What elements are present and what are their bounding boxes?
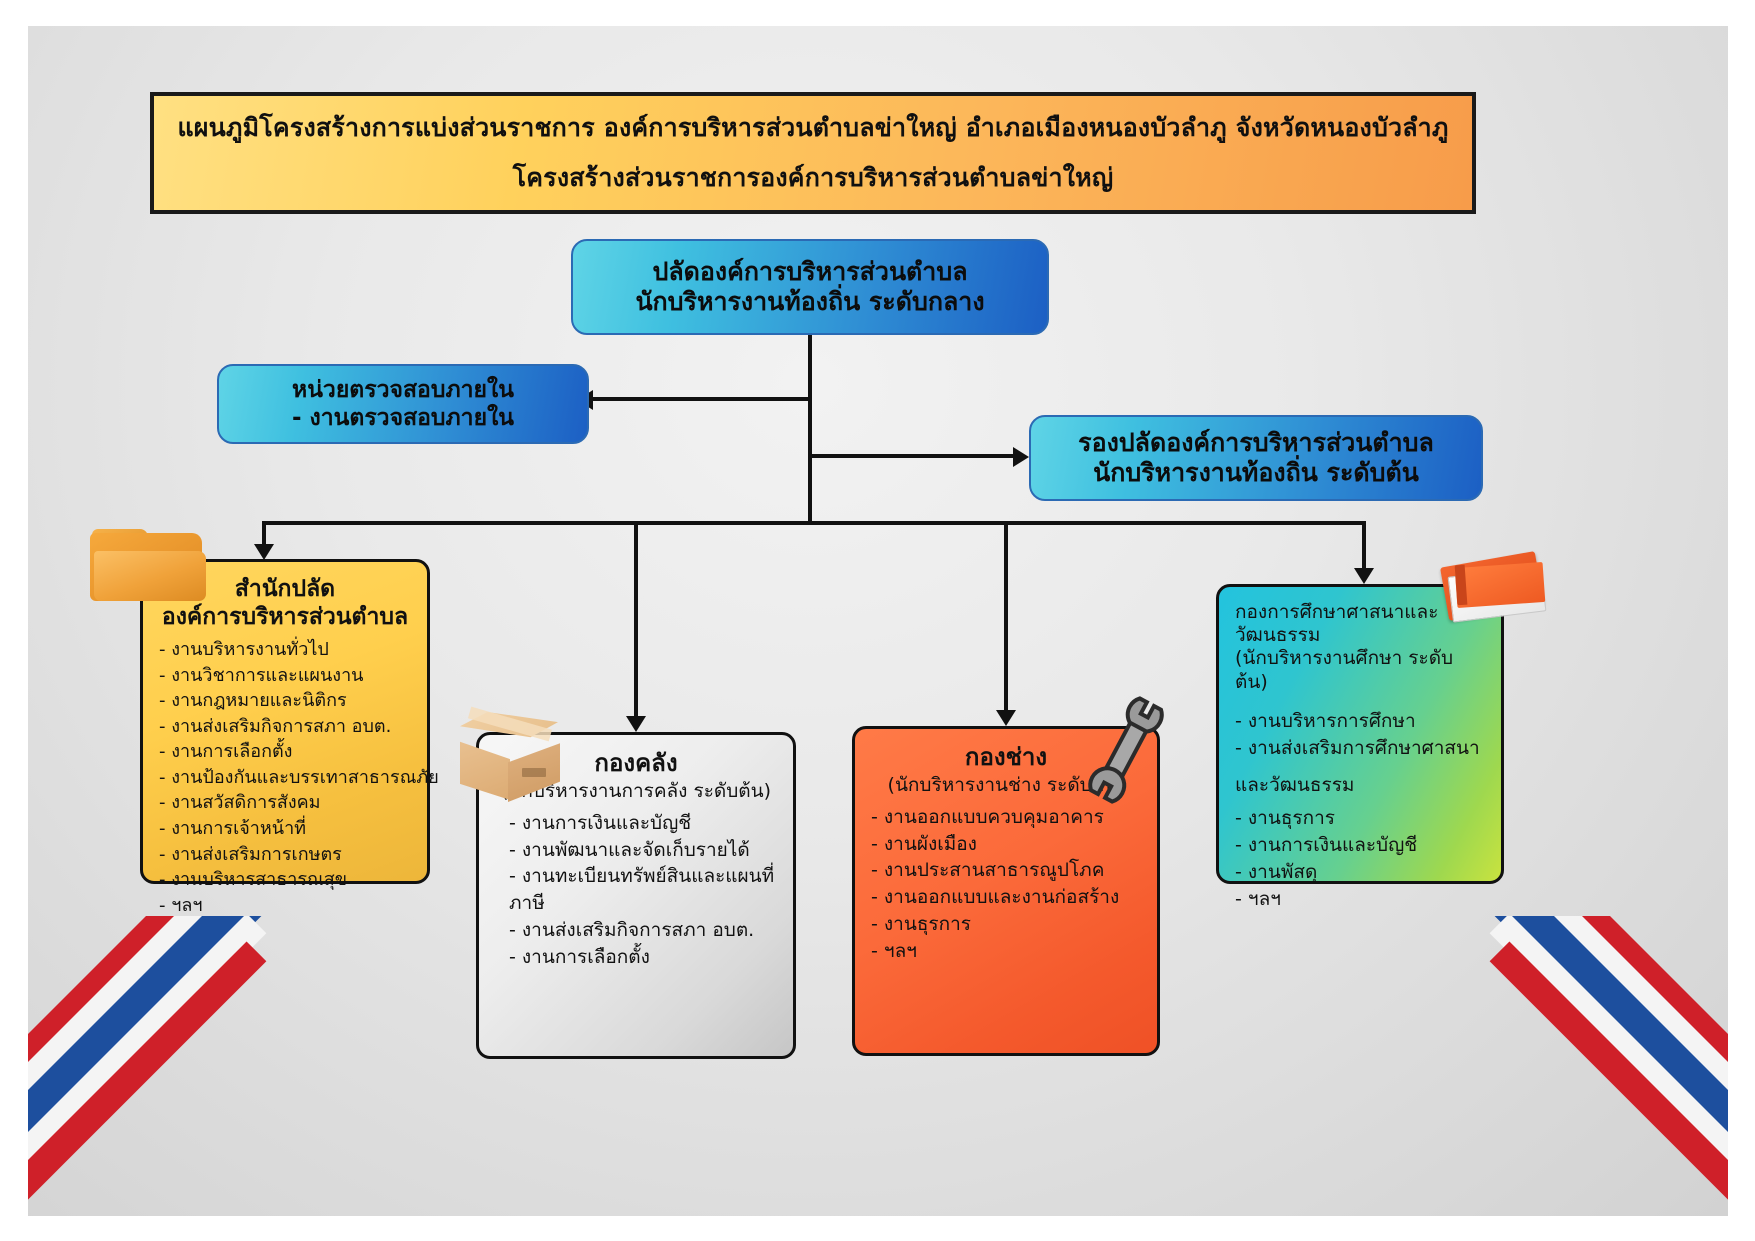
treasury-task-list: - งานการเงินและบัญชี - งานพัฒนาและจัดเก็… (495, 810, 777, 972)
engineer-task-list: - งานออกแบบควบคุมอาคาร - งานผังเมือง - ง… (871, 804, 1141, 966)
list-item: - ฯลฯ (871, 938, 1141, 965)
chief-rank: นักบริหารงานท้องถิ่น ระดับกลาง (635, 287, 984, 318)
books-icon (1434, 545, 1552, 627)
list-item: - งานส่งเสริมการเกษตร (159, 842, 411, 868)
arrow-to-treasury (626, 716, 646, 732)
node-education-division[interactable]: กองการศึกษาศาสนาและ วัฒนธรรม (นักบริหารง… (1216, 584, 1504, 884)
list-item: - งานทะเบียนทรัพย์สินและแผนที่ภาษี (495, 863, 777, 917)
org-chart-canvas: แผนภูมิโครงสร้างการแบ่งส่วนราชการ องค์กา… (0, 0, 1755, 1241)
node-internal-audit[interactable]: หน่วยตรวจสอบภายใน - งานตรวจสอบภายใน (217, 364, 589, 444)
list-item: - งานออกแบบควบคุมอาคาร (871, 804, 1141, 831)
flag-ribbon-bottom-right (1428, 916, 1728, 1216)
list-item: - งานส่งเสริมกิจการสภา อบต. (495, 917, 777, 944)
flag-ribbon-bottom-left (28, 916, 328, 1216)
list-item: - งานบริหารสาธารณสุข (159, 867, 411, 893)
list-item: - งานวิชาการและแผนงาน (159, 663, 411, 689)
connector-chief-trunk (808, 335, 812, 525)
arrow-to-deputy (1013, 447, 1029, 467)
education-title-line-2: วัฒนธรรม (1235, 624, 1485, 647)
list-item: - งานส่งเสริมการศึกษาศาสนา (1235, 735, 1485, 762)
list-item: - งานการเงินและบัญชี (1235, 832, 1485, 859)
list-item: - งานส่งเสริมกิจการสภา อบต. (159, 714, 411, 740)
node-office-of-the-clerk[interactable]: สำนักปลัด องค์การบริหารส่วนตำบล - งานบริ… (140, 559, 430, 884)
list-item: - งานธุรการ (1235, 805, 1485, 832)
arrow-to-office (254, 544, 274, 560)
audit-title: หน่วยตรวจสอบภายใน (292, 376, 514, 404)
node-deputy-administrator[interactable]: รองปลัดองค์การบริหารส่วนตำบล นักบริหารงา… (1029, 415, 1483, 501)
list-item: - งานกฎหมายและนิติกร (159, 688, 411, 714)
list-item: - งานบริหารการศึกษา (1235, 708, 1485, 735)
folder-icon (90, 529, 208, 605)
list-item: - งานธุรการ (871, 911, 1141, 938)
node-chief-administrator[interactable]: ปลัดองค์การบริหารส่วนตำบล นักบริหารงานท้… (571, 239, 1049, 335)
list-item: - งานการเจ้าหน้าที่ (159, 816, 411, 842)
list-item: - งานผังเมือง (871, 831, 1141, 858)
title-line-1: แผนภูมิโครงสร้างการแบ่งส่วนราชการ องค์กา… (177, 108, 1448, 148)
title-line-2: โครงสร้างส่วนราชการองค์การบริหารส่วนตำบล… (513, 158, 1114, 198)
deputy-rank: นักบริหารงานท้องถิ่น ระดับต้น (1093, 458, 1419, 489)
arrow-to-engineer (996, 710, 1016, 726)
list-item: - งานการเลือกตั้ง (159, 739, 411, 765)
list-item: - งานออกแบบและงานก่อสร้าง (871, 884, 1141, 911)
office-task-list: - งานบริหารงานทั่วไป - งานวิชาการและแผนง… (159, 637, 411, 918)
audit-task: - งานตรวจสอบภายใน (292, 404, 514, 432)
connector-drop-treasury (634, 521, 638, 719)
list-item: - งานบริหารงานทั่วไป (159, 637, 411, 663)
connector-department-bar (264, 521, 1364, 525)
deputy-title: รองปลัดองค์การบริหารส่วนตำบล (1078, 428, 1434, 459)
connector-drop-engineer (1004, 521, 1008, 713)
list-item: - งานพัฒนาและจัดเก็บรายได้ (495, 837, 777, 864)
list-item: - งานป้องกันและบรรเทาสาธารณภัย (159, 765, 411, 791)
list-item: - งานสวัสดิการสังคม (159, 790, 411, 816)
list-item: - งานการเงินและบัญชี (495, 810, 777, 837)
education-item-continuation: และวัฒนธรรม (1235, 772, 1485, 799)
list-item: - งานประสานสาธารณูปโภค (871, 857, 1141, 884)
education-task-list-rest: - งานธุรการ - งานการเงินและบัญชี - งานพั… (1235, 805, 1485, 913)
chief-title: ปลัดองค์การบริหารส่วนตำบล (652, 257, 967, 288)
connector-to-deputy (808, 454, 1013, 458)
list-item: - งานพัสดุ (1235, 859, 1485, 886)
office-title-line-2: องค์การบริหารส่วนตำบล (159, 604, 411, 632)
list-item: - ฯลฯ (159, 893, 411, 919)
list-item: - ฯลฯ (1235, 886, 1485, 913)
connector-to-audit (591, 397, 810, 401)
education-subtitle: (นักบริหารงานศึกษา ระดับต้น) (1235, 647, 1485, 693)
poster-title-banner: แผนภูมิโครงสร้างการแบ่งส่วนราชการ องค์กา… (150, 92, 1476, 214)
connector-drop-education (1362, 521, 1366, 571)
arrow-to-education (1354, 568, 1374, 584)
parcel-box-icon (452, 712, 568, 804)
wrench-icon (1074, 694, 1178, 806)
education-task-list: - งานบริหารการศึกษา - งานส่งเสริมการศึกษ… (1235, 708, 1485, 762)
list-item: - งานการเลือกตั้ง (495, 944, 777, 971)
poster-background: แผนภูมิโครงสร้างการแบ่งส่วนราชการ องค์กา… (28, 26, 1728, 1216)
